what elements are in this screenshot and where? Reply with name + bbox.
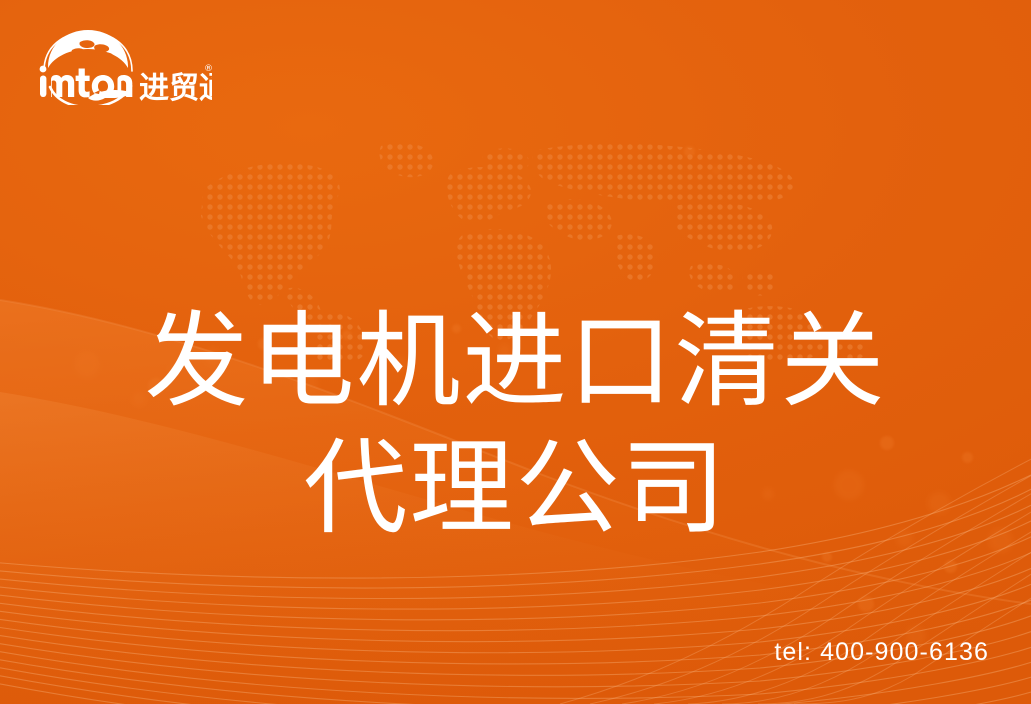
headline-line-2: 代理公司 <box>0 425 1031 552</box>
brand-logo[interactable]: 进贸通 ® <box>36 27 212 105</box>
globe-dome-icon <box>42 27 136 73</box>
contact-telephone[interactable]: tel: 400-900-6136 <box>774 638 989 667</box>
headline-line-1: 发电机进口清关 <box>0 298 1031 425</box>
registered-trademark-icon: ® <box>204 64 212 74</box>
page-title: 发电机进口清关 代理公司 <box>0 298 1031 552</box>
promo-banner: 进贸通 ® 发电机进口清关 代理公司 tel: 400-900-6136 <box>0 0 1031 704</box>
logo-chinese-name: 进贸通 <box>139 71 212 105</box>
